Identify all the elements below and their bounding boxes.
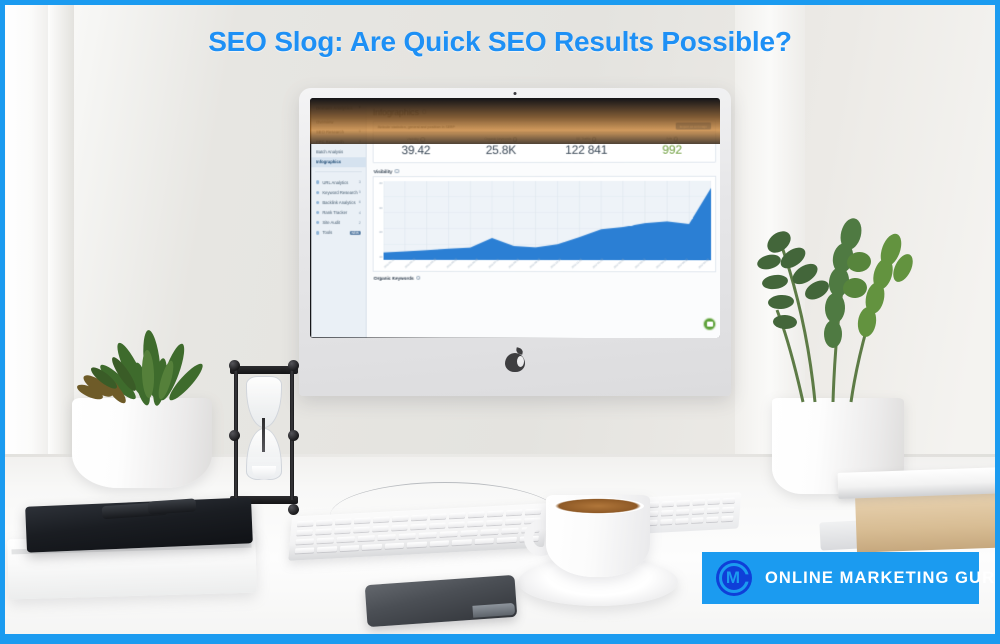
sidebar-item-rank-tracker[interactable]: Rank Tracker 4 xyxy=(311,208,365,218)
sidebar-secondary-group: URL Analytics 3 Keyword Research 5 xyxy=(311,174,365,240)
imac-chin xyxy=(299,332,731,388)
chart-x-axis: 2016-01-112016-02-222016-03-282016-05-02… xyxy=(384,267,712,270)
dashboard-sidebar: Domain Analytics ▾ Overview SEO Research… xyxy=(311,99,366,338)
metric-value: 39.42 xyxy=(374,143,459,157)
y-tick: 30 xyxy=(379,206,382,210)
sidebar-item-backlink-analytics[interactable]: Backlink Analytics 6 xyxy=(311,197,365,207)
zz-plant-right xyxy=(755,170,930,405)
sidebar-item-label: PPC Research xyxy=(316,139,343,144)
coffee-cup xyxy=(546,495,650,577)
bullet-icon xyxy=(316,211,319,214)
bullet-icon xyxy=(316,231,319,234)
info-icon[interactable]: i xyxy=(395,169,399,173)
plant-pot-left xyxy=(72,398,212,488)
apple-keyboard-right[interactable] xyxy=(638,492,741,533)
metrics-panel-bar: Website statistics, general and position… xyxy=(374,120,715,133)
imac-screen: Domain Analytics ▾ Overview SEO Research… xyxy=(310,98,720,338)
sidebar-item-overview[interactable]: Overview xyxy=(311,116,365,126)
sidebar-item-count: 4 xyxy=(359,211,361,215)
sidebar-item-label: Keyword Research xyxy=(323,190,358,195)
chat-support-icon[interactable] xyxy=(703,318,716,331)
dashboard-main: Web Analytics / Domain Analytics / Infog… xyxy=(367,98,720,338)
hourglass xyxy=(226,358,302,518)
frame-bottom-bar xyxy=(0,634,1000,644)
screenshot-stage: SEO Slog: Are Quick SEO Results Possible… xyxy=(0,0,1000,644)
imac-camera xyxy=(514,92,517,95)
metric-value: 122 841 xyxy=(544,143,630,157)
sidebar-item-url-analytics[interactable]: URL Analytics 3 xyxy=(311,177,365,187)
chevron-down-icon: ▾ xyxy=(359,105,361,111)
metric-label: SE Traffic xyxy=(576,137,591,141)
sidebar-item-batch-analysis[interactable]: Batch Analysis xyxy=(311,147,365,157)
metric-label-wrap: Organic keywords i xyxy=(458,137,543,142)
info-icon[interactable]: i xyxy=(416,276,420,280)
apple-logo xyxy=(505,348,525,372)
area-chart-svg xyxy=(384,181,712,260)
sidebar-divider xyxy=(315,171,362,172)
chart-y-axis: 40 30 20 10 xyxy=(375,181,383,260)
visibility-section-title: Visibility xyxy=(374,169,393,174)
metric-label: Visibility xyxy=(407,138,419,142)
visibility-chart-card: 40 30 20 10 2016-01-112016-02-222016-03-… xyxy=(373,176,717,273)
sidebar-item-count: 5 xyxy=(359,130,361,134)
sidebar-item-count: 3 xyxy=(359,180,361,184)
info-icon[interactable]: i xyxy=(421,137,425,141)
bullet-icon xyxy=(316,181,319,184)
omg-monogram-icon: M xyxy=(716,560,752,596)
sidebar-item-count: 2 xyxy=(359,221,361,225)
metric-visibility: Visibility i 39.42 xyxy=(374,137,459,157)
brand-badge[interactable]: M ONLINE MARKETING GURUS xyxy=(702,552,979,604)
sidebar-item-label: Infographics xyxy=(316,160,341,165)
y-tick: 40 xyxy=(379,181,382,185)
sidebar-item-label: SEO Research xyxy=(316,129,344,134)
bullet-icon xyxy=(316,201,319,204)
sidebar-item-count: 6 xyxy=(359,200,361,204)
metrics-panel: Website statistics, general and position… xyxy=(373,119,717,163)
wooden-box xyxy=(855,491,1000,552)
sidebar-item-count: 4 xyxy=(359,140,361,144)
brand-name: ONLINE MARKETING GURUS xyxy=(765,569,1000,588)
metric-label-wrap: Visibility i xyxy=(374,137,459,142)
info-icon[interactable]: i xyxy=(674,137,678,141)
sidebar-item-label: Tools xyxy=(323,230,333,235)
organic-section-title: Organic Keywords xyxy=(374,275,414,280)
info-icon[interactable]: i xyxy=(513,137,517,141)
sidebar-item-label: Site Audit xyxy=(323,220,341,225)
sidebar-item-tools[interactable]: Tools NEW xyxy=(311,228,365,238)
info-icon[interactable]: i xyxy=(422,110,426,114)
bullet-icon xyxy=(316,221,319,224)
seo-dashboard: Domain Analytics ▾ Overview SEO Research… xyxy=(311,98,720,338)
sidebar-header[interactable]: Domain Analytics ▾ xyxy=(311,102,365,114)
metric-se-traffic: SE Traffic i 122 841 xyxy=(544,137,630,157)
organic-keywords-section-header: Organic Keywords i xyxy=(373,272,717,283)
succulent-plant-left xyxy=(60,330,230,410)
visibility-section-header: Visibility i xyxy=(373,166,717,176)
y-tick: 10 xyxy=(379,255,382,259)
visibility-chart: 40 30 20 10 xyxy=(384,181,712,260)
imac-monitor: Domain Analytics ▾ Overview SEO Research… xyxy=(299,88,731,396)
paper-stack xyxy=(838,467,1000,499)
metrics-panel-note: Website statistics, general and position… xyxy=(378,125,455,129)
sidebar-item-ppc-research[interactable]: PPC Research 4 xyxy=(311,137,365,147)
bullet-icon xyxy=(316,191,319,194)
monogram-letter: M xyxy=(726,569,739,586)
sidebar-primary-group: Overview SEO Research 5 PPC Research 4 xyxy=(311,113,365,169)
metric-organic-keywords: Organic keywords i 25.8K xyxy=(458,137,543,157)
sidebar-header-label: Domain Analytics xyxy=(316,105,352,110)
sidebar-item-label: Rank Tracker xyxy=(323,210,348,215)
coffee-surface xyxy=(552,498,644,514)
sidebar-item-count: 5 xyxy=(359,190,361,194)
metric-label-wrap: Ads i xyxy=(629,137,715,142)
metric-label-wrap: SE Traffic i xyxy=(544,137,630,142)
sidebar-item-label: Backlink Analytics xyxy=(323,200,356,205)
y-tick: 20 xyxy=(379,230,382,234)
metric-label: Ads xyxy=(666,137,672,141)
metric-label: Organic keywords xyxy=(484,137,511,141)
wall-panel-left xyxy=(6,0,48,470)
sidebar-new-badge: NEW xyxy=(349,231,360,236)
sidebar-item-label: Batch Analysis xyxy=(316,150,343,155)
metrics-row: Visibility i 39.42 Organic keywords i xyxy=(374,133,715,163)
export-image-button[interactable]: Export as an Image xyxy=(676,123,711,130)
info-icon[interactable]: i xyxy=(592,137,596,141)
sidebar-item-label: Overview xyxy=(316,119,333,124)
metric-value: 25.8K xyxy=(458,143,543,157)
metric-ads: Ads i 992 xyxy=(629,137,715,157)
page-title: SEO Slog: Are Quick SEO Results Possible… xyxy=(0,26,1000,58)
metric-value: 992 xyxy=(629,143,715,157)
sidebar-item-seo-research[interactable]: SEO Research 5 xyxy=(311,127,365,137)
sidebar-item-keyword-research[interactable]: Keyword Research 5 xyxy=(311,187,365,197)
breadcrumb[interactable]: Web Analytics / Domain Analytics / Infog… xyxy=(373,100,717,105)
sidebar-item-infographics[interactable]: Infographics xyxy=(311,157,365,167)
dashboard-title-row: Infographics i xyxy=(373,106,717,117)
sidebar-item-site-audit[interactable]: Site Audit 2 xyxy=(311,218,365,228)
sidebar-item-label: URL Analytics xyxy=(323,180,349,185)
dashboard-page-title: Infographics xyxy=(373,107,419,117)
